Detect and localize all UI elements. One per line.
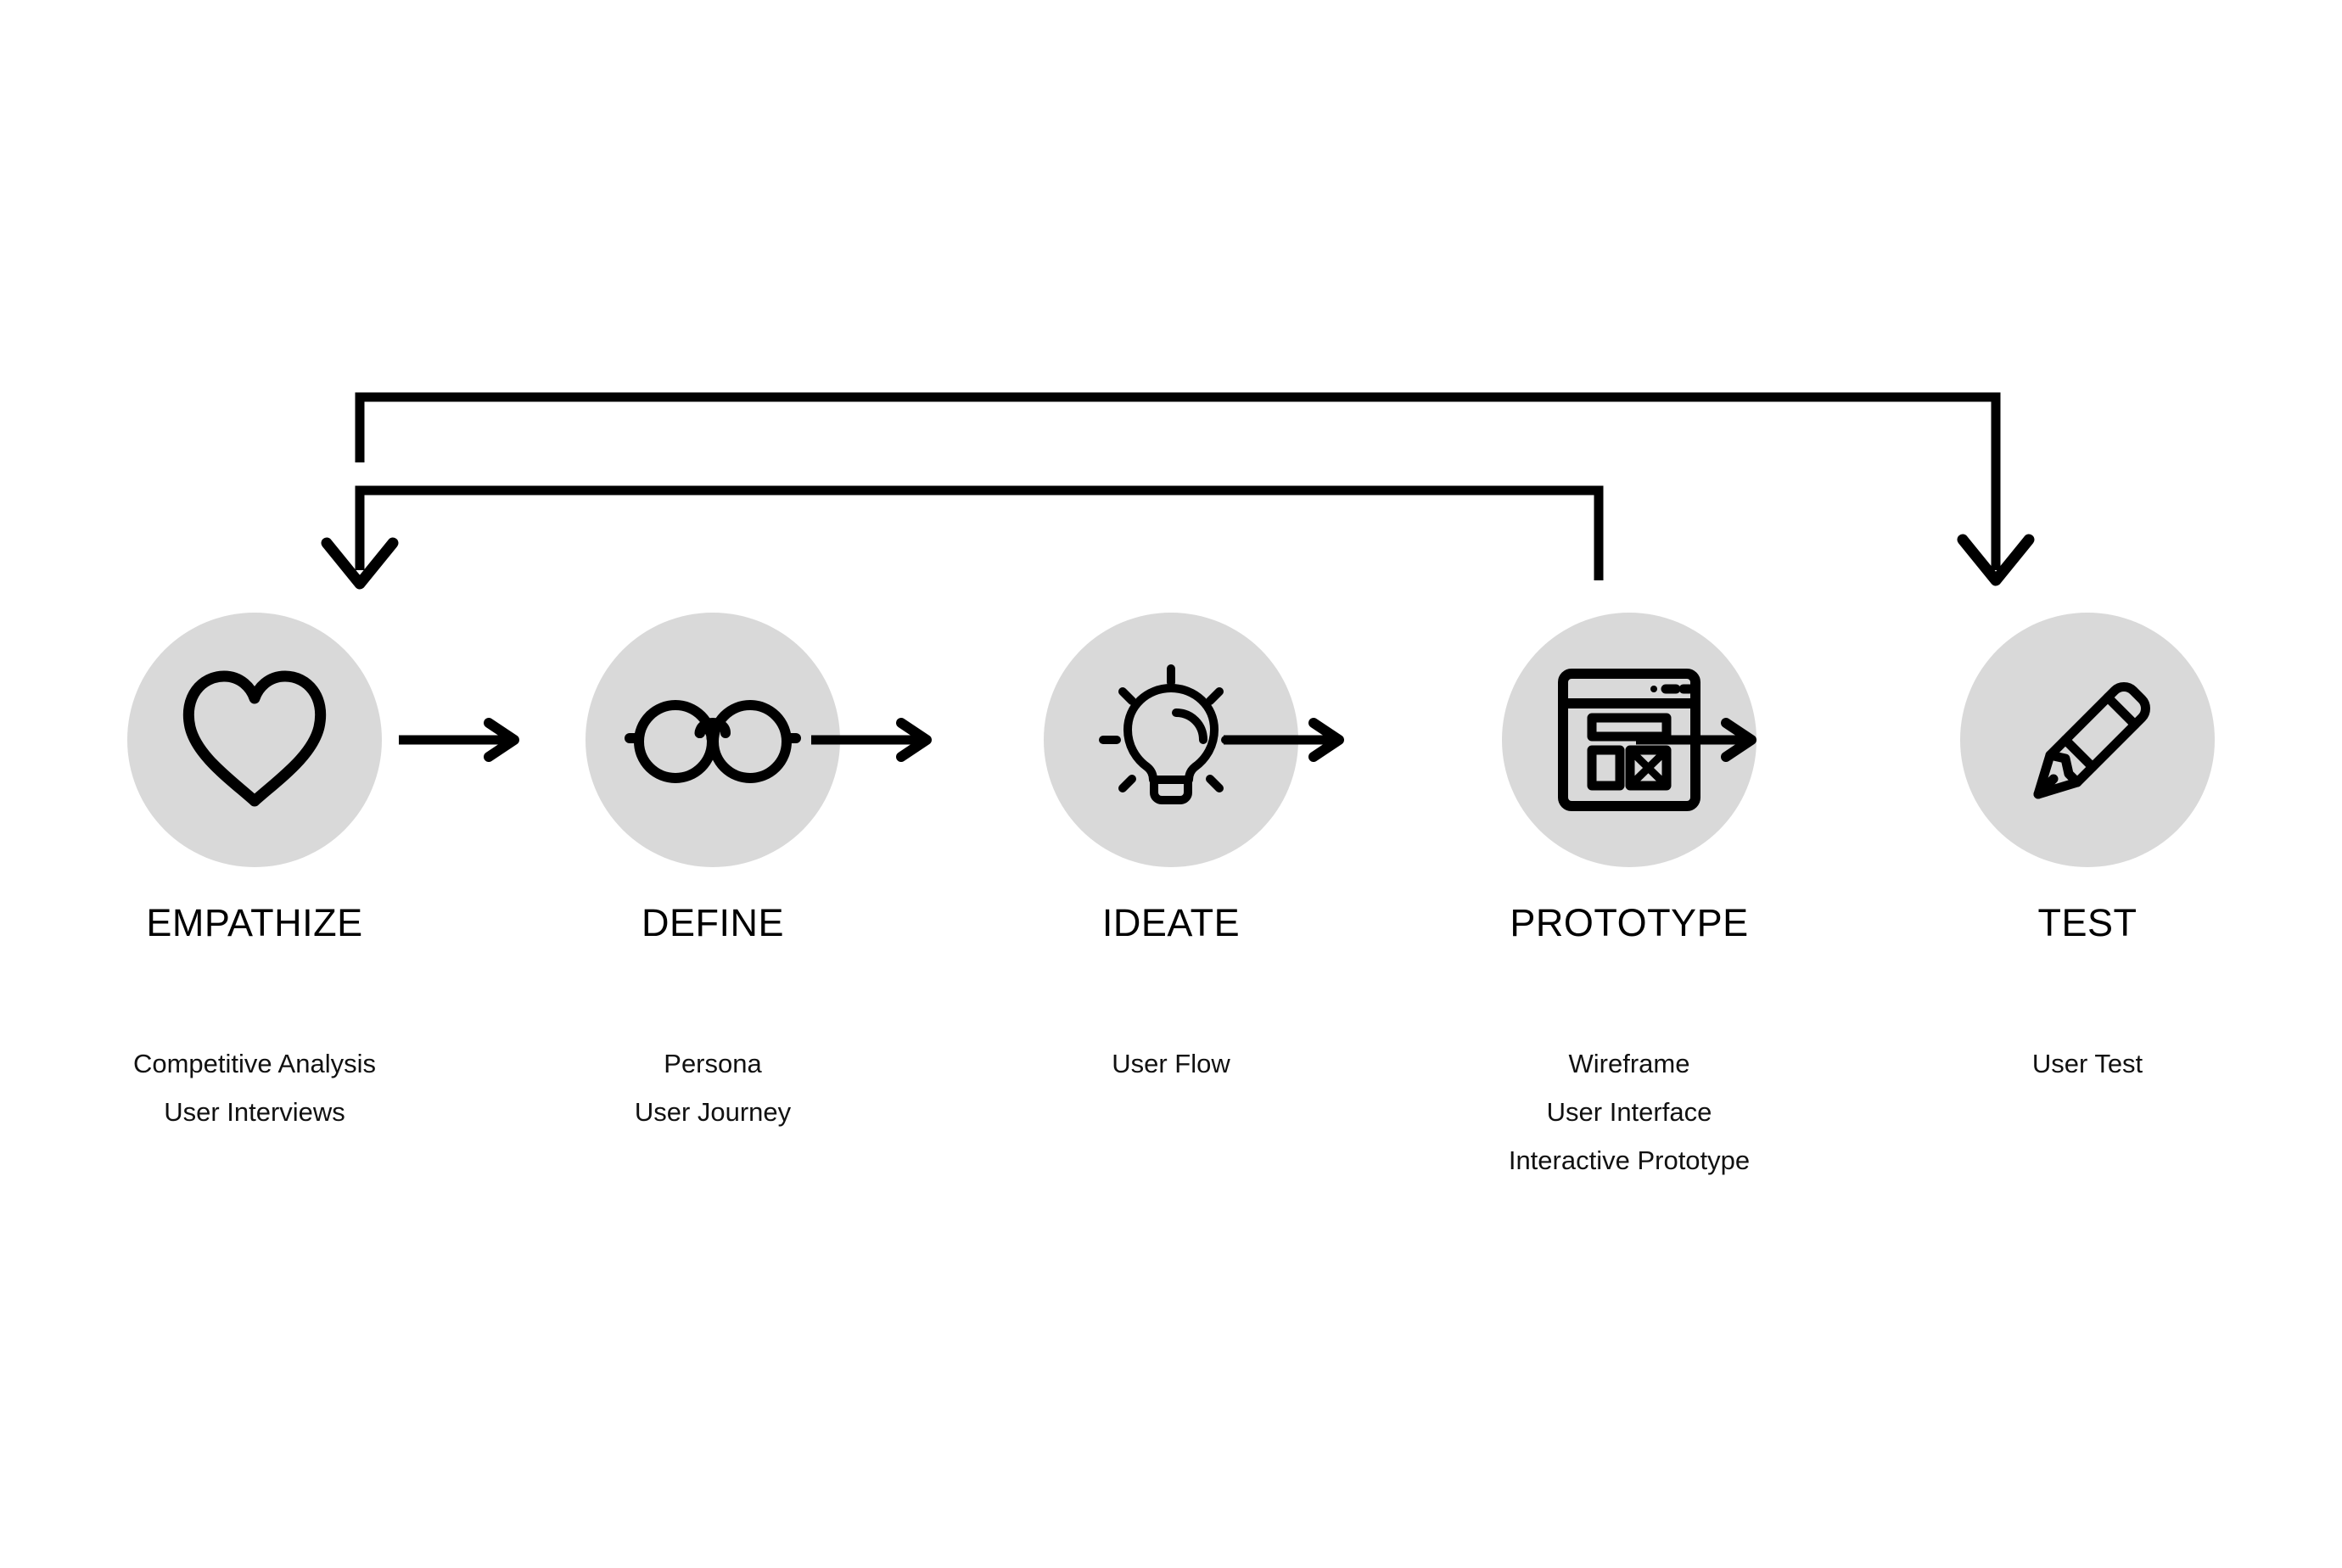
- deliverable-item: Persona: [585, 1039, 840, 1088]
- stage-define[interactable]: [585, 613, 840, 867]
- stage-label-define: DEFINE: [585, 901, 840, 945]
- inner-loop-path: [360, 490, 1599, 580]
- stage-icon-circle-test[interactable]: [1960, 613, 2215, 867]
- stage-test[interactable]: [1960, 613, 2215, 867]
- stage-empathize[interactable]: [127, 613, 382, 867]
- deliverable-item: User Interviews: [127, 1088, 382, 1136]
- deliverable-item: User Test: [1960, 1039, 2215, 1088]
- deliverables-row: Competitive Analysis User Interviews Per…: [127, 1039, 2215, 1184]
- deliverable-item: User Journey: [585, 1088, 840, 1136]
- deliverables-prototype: Wireframe User Interface Interactive Pro…: [1502, 1039, 1756, 1184]
- design-thinking-diagram: EMPATHIZE DEFINE IDEATE PROTOTYPE TEST C…: [0, 0, 2342, 1568]
- outer-loop-path: [360, 397, 1996, 570]
- stage-ideate[interactable]: [1044, 613, 1298, 867]
- stage-prototype[interactable]: [1502, 613, 1756, 867]
- deliverable-item: User Flow: [1044, 1039, 1298, 1088]
- stage-icon-circle-prototype[interactable]: [1502, 613, 1756, 867]
- deliverables-empathize: Competitive Analysis User Interviews: [127, 1039, 382, 1136]
- deliverable-item: Wireframe: [1502, 1039, 1756, 1088]
- deliverables-define: Persona User Journey: [585, 1039, 840, 1136]
- stage-label-ideate: IDEATE: [1044, 901, 1298, 945]
- heart-icon: [178, 668, 331, 812]
- stage-icon-circle-define[interactable]: [585, 613, 840, 867]
- lightbulb-icon: [1095, 664, 1247, 816]
- stage-label-test: TEST: [1960, 901, 2215, 945]
- deliverable-item: User Interface: [1502, 1088, 1756, 1136]
- stage-label-empathize: EMPATHIZE: [127, 901, 382, 945]
- wireframe-window-icon: [1556, 667, 1702, 813]
- deliverable-item: Interactive Prototype: [1502, 1136, 1756, 1184]
- stage-icon-circle-empathize[interactable]: [127, 613, 382, 867]
- pencil-icon: [2013, 665, 2162, 815]
- inner-loop-arrowhead-icon: [327, 543, 393, 584]
- stage-label-prototype: PROTOTYPE: [1502, 901, 1756, 945]
- stage-labels-row: EMPATHIZE DEFINE IDEATE PROTOTYPE TEST: [127, 901, 2215, 945]
- deliverables-test: User Test: [1960, 1039, 2215, 1088]
- stage-icon-row: [127, 613, 2215, 884]
- glasses-icon: [623, 689, 803, 791]
- stage-icon-circle-ideate[interactable]: [1044, 613, 1298, 867]
- outer-loop-arrowhead-icon: [1963, 540, 2029, 580]
- deliverable-item: Competitive Analysis: [127, 1039, 382, 1088]
- deliverables-ideate: User Flow: [1044, 1039, 1298, 1088]
